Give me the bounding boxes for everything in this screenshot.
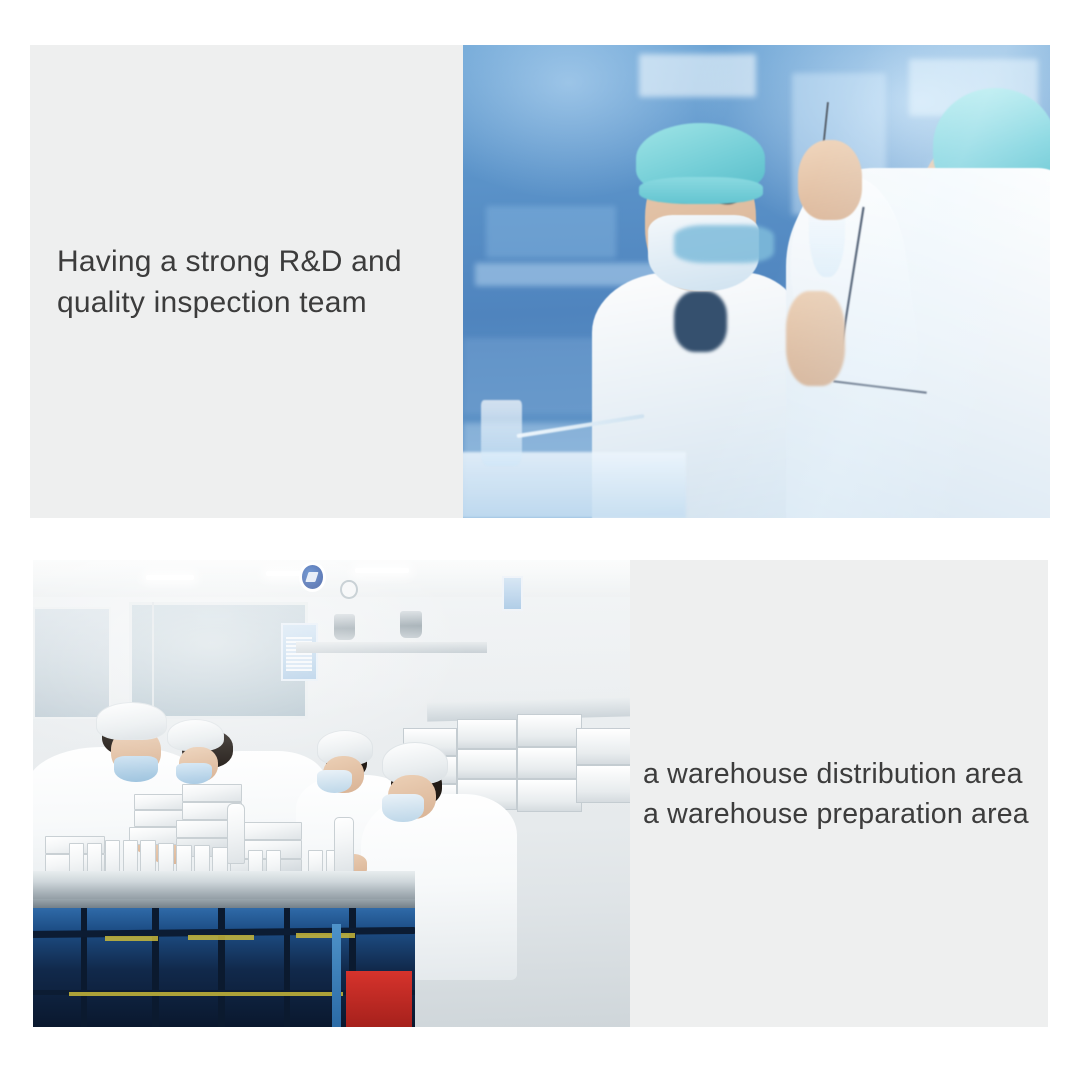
- yellow-marking: [188, 935, 254, 940]
- technician-left-hairnet: [636, 123, 765, 194]
- worker-right-mask: [382, 794, 424, 822]
- glass-partition: [33, 607, 111, 719]
- wall-notice-board: [502, 576, 523, 611]
- carton-stack: [457, 719, 517, 749]
- carton-stack: [517, 779, 583, 812]
- ceiling-light: [146, 575, 194, 580]
- stainless-table-top: [33, 871, 415, 901]
- carton-stack: [457, 749, 517, 779]
- carton-stack: [576, 765, 630, 802]
- carton-stack: [517, 747, 583, 780]
- bottom-caption-panel: a warehouse distribution area a warehous…: [630, 560, 1048, 1027]
- lab-qc-team-photo: [463, 45, 1050, 518]
- carton-stack: [517, 714, 583, 747]
- ceiling-light: [355, 568, 409, 573]
- yellow-marking: [69, 992, 344, 996]
- top-caption-line-2: quality inspection team: [57, 282, 463, 323]
- bottom-caption-line-2: a warehouse preparation area: [643, 794, 1048, 834]
- worker-left-hairnet: [96, 702, 168, 739]
- carton-stack: [576, 728, 630, 765]
- lab-shelf: [486, 206, 615, 258]
- box-stack: [182, 784, 242, 802]
- worker-center-left-mask: [176, 763, 212, 784]
- shelf-post: [284, 908, 291, 1027]
- lab-wall-panel: [639, 54, 756, 97]
- yellow-marking: [296, 933, 356, 938]
- technician-left-collar: [674, 291, 727, 352]
- bottom-section: a warehouse distribution area a warehous…: [33, 560, 1048, 1027]
- stainless-pot: [334, 614, 354, 640]
- red-cart: [346, 971, 412, 1027]
- warehouse-ceiling: [33, 560, 630, 597]
- worker-left-mask: [114, 756, 159, 782]
- technician-center-hand: [798, 140, 863, 220]
- glass-beaker: [481, 400, 522, 466]
- product-bottle: [227, 803, 245, 864]
- shelf-post: [81, 908, 88, 1027]
- yellow-marking: [105, 936, 159, 941]
- box-stack: [236, 822, 302, 841]
- shelf-post: [152, 908, 159, 1027]
- technician-left-mask-shadow: [674, 225, 774, 263]
- top-section: Having a strong R&D and quality inspecti…: [30, 45, 1050, 518]
- shelf-post: [218, 908, 225, 1027]
- technician-center-hand: [786, 291, 845, 386]
- blue-support-post: [332, 924, 342, 1027]
- window-mullion: [152, 602, 154, 719]
- back-counter: [296, 642, 487, 653]
- product-bottle: [334, 817, 353, 873]
- top-caption-line-1: Having a strong R&D and: [57, 241, 463, 282]
- top-caption-panel: Having a strong R&D and quality inspecti…: [30, 45, 463, 518]
- box-stack: [134, 794, 188, 811]
- warehouse-packing-photo: [33, 560, 630, 1027]
- ceiling-light: [266, 571, 302, 576]
- stainless-pot: [400, 611, 421, 638]
- blue-circular-sign: [299, 562, 326, 592]
- bottom-caption-line-1: a warehouse distribution area: [643, 754, 1048, 794]
